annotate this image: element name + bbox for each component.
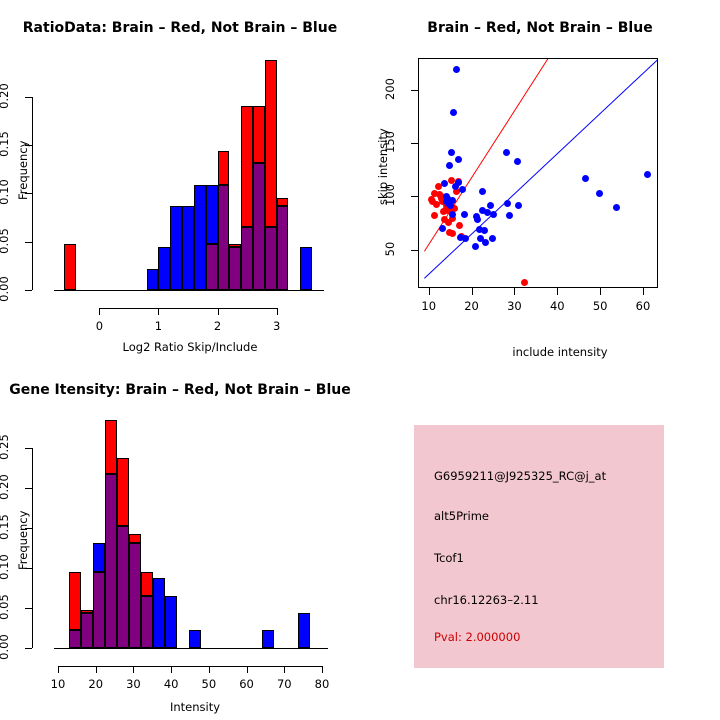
x-axis-tick-label: 30 bbox=[113, 677, 153, 691]
histogram-bar bbox=[300, 247, 312, 290]
y-axis-tick-label: 150 bbox=[383, 126, 397, 158]
scatter-point bbox=[490, 211, 497, 218]
histogram-bar bbox=[262, 630, 274, 648]
y-axis-tick bbox=[25, 145, 32, 146]
x-axis-tick-label: 60 bbox=[623, 299, 663, 313]
scatter-point bbox=[596, 190, 603, 197]
scatter-point bbox=[479, 188, 486, 195]
info-gene-symbol: Tcof1 bbox=[434, 551, 464, 565]
x-axis-tick-label: 60 bbox=[227, 677, 267, 691]
scatter-point bbox=[481, 227, 488, 234]
plot-baseline bbox=[54, 290, 324, 291]
x-axis-tick bbox=[514, 288, 515, 295]
scatter-point bbox=[448, 149, 455, 156]
scatter-point bbox=[455, 156, 462, 163]
scatter-point bbox=[515, 202, 522, 209]
scatter-point bbox=[487, 202, 494, 209]
histogram-bar bbox=[147, 269, 159, 290]
y-axis-line bbox=[32, 97, 33, 290]
x-axis-tick bbox=[643, 288, 644, 295]
scatter-point bbox=[489, 235, 496, 242]
histogram-bar bbox=[153, 578, 165, 648]
scatter-point bbox=[449, 197, 456, 204]
scatter-point bbox=[446, 162, 453, 169]
y-axis-tick bbox=[25, 448, 32, 449]
y-axis-tick bbox=[411, 90, 418, 91]
histogram-bar bbox=[182, 206, 194, 290]
y-axis-tick-label: 0.20 bbox=[0, 471, 11, 503]
x-axis-tick-label: 30 bbox=[494, 299, 534, 313]
x-axis-tick bbox=[96, 666, 97, 673]
histogram-bar bbox=[218, 151, 230, 185]
scatter-plot-area: 50100150200102030405060 bbox=[360, 0, 720, 360]
y-axis-tick-label: 0.05 bbox=[0, 591, 11, 623]
histogram-bar bbox=[93, 543, 105, 572]
scatter-point bbox=[459, 186, 466, 193]
scatter-point bbox=[474, 216, 481, 223]
info-locus: chr16.12263–2.11 bbox=[434, 593, 539, 607]
y-axis-tick-label: 50 bbox=[383, 233, 397, 265]
scatter-point bbox=[449, 230, 456, 237]
x-axis-tick-label: 2 bbox=[198, 319, 238, 333]
x-axis-tick-label: 50 bbox=[580, 299, 620, 313]
x-axis-tick-label: 40 bbox=[537, 299, 577, 313]
y-axis-tick bbox=[411, 143, 418, 144]
figure-canvas: RatioData: Brain – Red, Not Brain – Blue… bbox=[0, 0, 720, 720]
histogram-bar bbox=[64, 244, 76, 290]
y-axis-tick-label: 0.20 bbox=[0, 80, 11, 112]
histogram-bar bbox=[129, 543, 141, 648]
y-axis-tick bbox=[25, 290, 32, 291]
y-axis-tick bbox=[411, 250, 418, 251]
x-axis-tick bbox=[472, 288, 473, 295]
histogram-bar bbox=[69, 572, 81, 630]
histogram-bar bbox=[206, 185, 218, 244]
x-axis-tick bbox=[322, 666, 323, 673]
y-axis-tick bbox=[25, 97, 32, 98]
histogram-bar bbox=[93, 572, 105, 648]
x-axis-tick-label: 1 bbox=[138, 319, 178, 333]
blue-fit-line bbox=[424, 59, 658, 279]
x-axis-tick bbox=[171, 666, 172, 673]
x-axis-tick-label: 0 bbox=[79, 319, 119, 333]
histogram-bar bbox=[298, 613, 310, 648]
scatter-point bbox=[613, 204, 620, 211]
x-axis-tick-label: 3 bbox=[257, 319, 297, 333]
histogram-bar bbox=[241, 106, 253, 227]
scatter-point bbox=[439, 225, 446, 232]
x-axis-line bbox=[58, 666, 322, 667]
histogram-bar bbox=[170, 206, 182, 290]
scatter-point bbox=[441, 180, 448, 187]
x-axis-tick bbox=[247, 666, 248, 673]
y-axis-tick-label: 0.00 bbox=[0, 273, 11, 305]
y-axis-tick bbox=[25, 488, 32, 489]
histogram-bar bbox=[141, 572, 153, 596]
y-axis-tick bbox=[25, 648, 32, 649]
x-axis-tick-label: 80 bbox=[302, 677, 342, 691]
y-axis-tick bbox=[25, 568, 32, 569]
histogram-bar bbox=[253, 106, 265, 163]
scatter-panel: Brain – Red, Not Brain – Blue skip inten… bbox=[360, 0, 720, 360]
x-axis-tick bbox=[133, 666, 134, 673]
x-axis-tick bbox=[284, 666, 285, 673]
scatter-point bbox=[504, 200, 511, 207]
gene-info-panel: G6959211@J925325_RC@j_at alt5Prime Tcof1… bbox=[414, 425, 664, 668]
histogram-bar bbox=[117, 526, 129, 648]
y-axis-tick-label: 0.10 bbox=[0, 176, 11, 208]
x-axis-tick bbox=[209, 666, 210, 673]
ratio-histogram-panel: RatioData: Brain – Red, Not Brain – Blue… bbox=[0, 0, 360, 360]
y-axis-tick bbox=[411, 196, 418, 197]
ratio-histogram-plot: 0.000.050.100.150.200123 bbox=[0, 0, 360, 360]
y-axis-tick-label: 0.05 bbox=[0, 225, 11, 257]
x-axis-tick bbox=[600, 288, 601, 295]
scatter-point bbox=[461, 211, 468, 218]
y-axis-tick bbox=[25, 528, 32, 529]
x-axis-tick bbox=[218, 308, 219, 315]
x-axis-tick-label: 70 bbox=[264, 677, 304, 691]
scatter-point bbox=[462, 235, 469, 242]
scatter-point bbox=[582, 175, 589, 182]
scatter-frame bbox=[418, 58, 658, 288]
y-axis-tick bbox=[25, 608, 32, 609]
histogram-bar bbox=[206, 244, 218, 290]
histogram-bar bbox=[194, 185, 206, 290]
histogram-bar bbox=[129, 534, 141, 544]
gene-histogram-panel: Gene Itensity: Brain – Red, Not Brain – … bbox=[0, 360, 360, 720]
histogram-bar bbox=[105, 474, 117, 648]
histogram-bar bbox=[69, 630, 81, 648]
histogram-bar bbox=[229, 247, 241, 290]
x-axis-tick bbox=[277, 308, 278, 315]
x-axis-tick-label: 50 bbox=[189, 677, 229, 691]
y-axis-tick-label: 0.15 bbox=[0, 128, 11, 160]
plot-baseline bbox=[54, 648, 328, 649]
y-axis-tick-label: 0.00 bbox=[0, 631, 11, 663]
x-axis-tick-label: 40 bbox=[151, 677, 191, 691]
info-probe-id: G6959211@J925325_RC@j_at bbox=[434, 469, 606, 483]
scatter-point bbox=[450, 109, 457, 116]
gene-histogram-plot: 0.000.050.100.150.200.251020304050607080 bbox=[0, 360, 360, 720]
x-axis-tick bbox=[58, 666, 59, 673]
histogram-bar bbox=[141, 596, 153, 648]
y-axis-tick-label: 100 bbox=[383, 179, 397, 211]
scatter-point bbox=[514, 158, 521, 165]
scatter-point bbox=[455, 179, 462, 186]
histogram-bar bbox=[117, 458, 129, 527]
y-axis-tick-label: 200 bbox=[383, 73, 397, 105]
histogram-bar bbox=[277, 198, 289, 206]
scatter-point bbox=[644, 171, 651, 178]
histogram-bar bbox=[218, 185, 230, 290]
histogram-bar bbox=[189, 630, 201, 648]
histogram-bar bbox=[265, 60, 277, 227]
x-axis-tick bbox=[429, 288, 430, 295]
info-event-type: alt5Prime bbox=[434, 509, 489, 523]
scatter-point bbox=[453, 66, 460, 73]
histogram-bar bbox=[253, 163, 265, 290]
scatter-point bbox=[506, 212, 513, 219]
histogram-bar bbox=[165, 596, 177, 648]
x-axis-tick-label: 10 bbox=[409, 299, 449, 313]
scatter-point bbox=[482, 239, 489, 246]
y-axis-tick-label: 0.15 bbox=[0, 511, 11, 543]
histogram-bar bbox=[277, 206, 289, 290]
x-axis-tick bbox=[557, 288, 558, 295]
scatter-point bbox=[456, 222, 463, 229]
x-axis-line bbox=[99, 308, 276, 309]
scatter-point bbox=[503, 149, 510, 156]
y-axis-tick bbox=[25, 193, 32, 194]
y-axis-tick-label: 0.10 bbox=[0, 551, 11, 583]
scatter-point bbox=[472, 243, 479, 250]
x-axis-tick-label: 10 bbox=[38, 677, 78, 691]
histogram-bar bbox=[241, 227, 253, 290]
y-axis-tick-label: 0.25 bbox=[0, 431, 11, 463]
y-axis-line bbox=[32, 448, 33, 648]
x-axis-tick bbox=[99, 308, 100, 315]
x-axis-tick bbox=[158, 308, 159, 315]
histogram-bar bbox=[265, 227, 277, 290]
y-axis-tick bbox=[25, 242, 32, 243]
scatter-point bbox=[521, 279, 528, 286]
scatter-point bbox=[431, 212, 438, 219]
histogram-bar bbox=[105, 420, 117, 474]
x-axis-tick-label: 20 bbox=[452, 299, 492, 313]
histogram-bar bbox=[81, 610, 93, 613]
info-pval: Pval: 2.000000 bbox=[434, 630, 520, 644]
histogram-bar bbox=[81, 613, 93, 648]
x-axis-tick-label: 20 bbox=[76, 677, 116, 691]
histogram-bar bbox=[158, 247, 170, 290]
histogram-bar bbox=[229, 244, 241, 248]
